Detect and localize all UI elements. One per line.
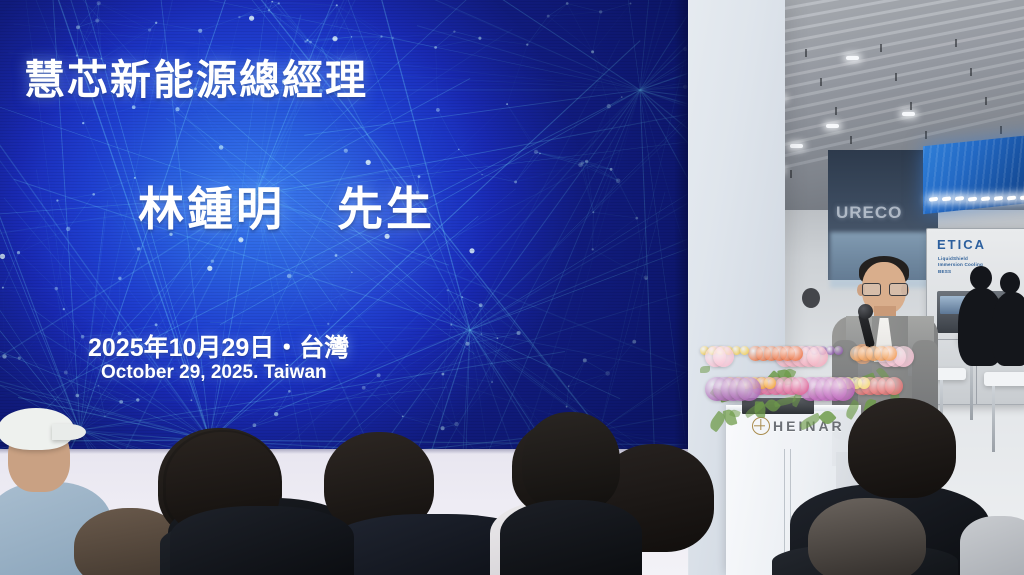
ceiling-dropper [850, 136, 852, 144]
audience-head-grey [808, 498, 926, 575]
screen-right-falloff [674, 0, 688, 449]
banner-spotlight [929, 197, 938, 202]
cap-brim [52, 424, 86, 440]
audience-head-suit [848, 398, 956, 498]
flower-bloom [791, 377, 809, 395]
ceiling-dropper [805, 49, 807, 57]
audience-body-ponytail [500, 500, 642, 575]
bar-stool-seat-1 [984, 372, 1024, 386]
slide-speaker-honorific: 先生 [337, 183, 435, 235]
flower-leaf [700, 366, 710, 373]
banner-spotlight [1007, 196, 1016, 201]
banner-spotlight [1020, 196, 1024, 201]
ceiling-dropper [925, 131, 927, 139]
flower-bloom [764, 377, 776, 389]
audience-body-far-right [960, 516, 1024, 575]
flower-bloom [831, 377, 855, 401]
flower-bloom [885, 377, 903, 395]
slide-speaker-line: 林鍾明先生 [138, 173, 435, 239]
flower-bloom [740, 346, 749, 355]
bar-stool-leg-1a [992, 386, 995, 452]
visitor-body-2 [992, 292, 1024, 366]
glasses-lens-right [889, 283, 908, 296]
flower-bloom [834, 346, 843, 355]
etica-wordmark: ETICA [937, 237, 986, 252]
ceiling-dropper [910, 102, 912, 110]
audience-body-9 [170, 506, 354, 575]
etica-logo: ETICA [937, 237, 986, 252]
ceiling-dropper [955, 39, 957, 47]
audience-head-ponytail [522, 412, 620, 512]
flower-bloom [788, 346, 803, 361]
flower-bloom [807, 346, 828, 367]
banner-spotlight [968, 196, 977, 201]
ceiling-downlight [846, 56, 859, 60]
slide-date-chinese: 2025年10月29日・台灣 [88, 328, 349, 364]
flower-leaf [754, 401, 766, 418]
ceiling-dropper [970, 68, 972, 76]
ceiling-dropper [820, 78, 822, 86]
led-banner [923, 134, 1024, 215]
banner-spotlight [955, 196, 964, 201]
ceiling-dropper [1000, 126, 1002, 134]
conference-photo: URECO ETICA LiquidShield Immersion Cooli… [0, 0, 1024, 575]
ceiling-downlight [790, 144, 803, 148]
banner-spotlight [942, 197, 951, 202]
slide-date-english: October 29, 2025. Taiwan [101, 362, 327, 384]
slide-speaker-name: 林鍾明 [138, 183, 285, 235]
ceiling-dropper [985, 97, 987, 105]
flower-bloom [882, 346, 897, 361]
ceiling-downlight [826, 124, 839, 128]
microphone-head [858, 304, 873, 319]
flower-bloom [713, 346, 734, 367]
ceiling-dropper [835, 107, 837, 115]
flower-bloom [858, 377, 870, 389]
ceiling-downlight [902, 112, 915, 116]
banner-spotlight [994, 196, 1003, 201]
ceiling-dropper [790, 170, 792, 178]
presentation-screen: 慧芯新能源總經理 林鍾明先生 2025年10月29日・台灣 October 29… [0, 0, 688, 449]
visitor-head-3 [802, 288, 820, 308]
glasses-lens-left [862, 283, 881, 296]
visitor-head-2 [1000, 272, 1020, 294]
flower-bloom [737, 377, 761, 401]
visitor-head-1 [970, 266, 992, 290]
slide-title: 慧芯新能源總經理 [24, 46, 368, 106]
ceiling-dropper [880, 44, 882, 52]
ureco-sign: URECO [836, 203, 902, 223]
ceiling-dropper [895, 73, 897, 81]
speaker-glasses [862, 283, 906, 294]
banner-spotlight [981, 196, 990, 201]
